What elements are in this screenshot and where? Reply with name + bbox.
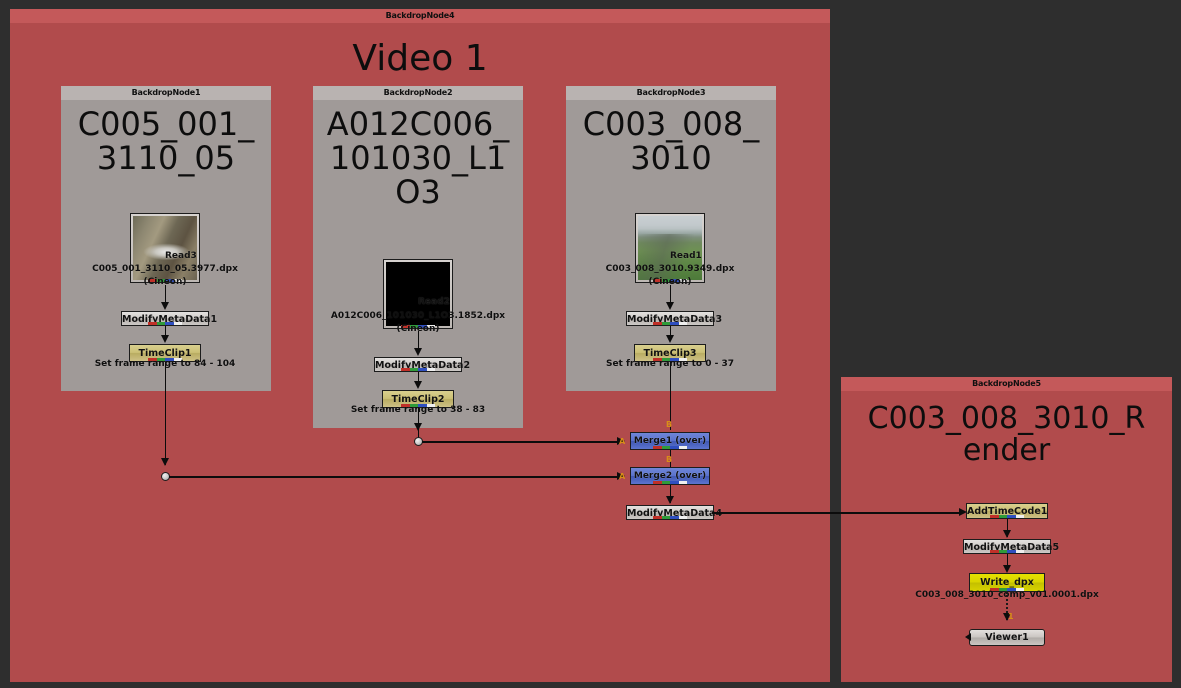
backdrop-node-3-title: C003_008_ 3010 [566,108,776,176]
arrow-modifymetadata5-to-write [1003,565,1011,573]
wire-timeclip1-to-merge2 [169,476,619,478]
merge2-input-a-label: A [619,472,625,481]
backdrop-node-1-title: C005_001_ 3110_05 [61,108,271,176]
arrow-read3-to-modifymetadata1 [161,302,169,310]
backdrop-node-2-header: BackdropNode2 [313,86,523,100]
modifymetadata1-channel-chips [148,322,182,325]
node-merge2[interactable]: Merge2 (over) [630,467,710,485]
node-viewer1[interactable]: Viewer1 [969,629,1045,646]
viewer1-label: Viewer1 [970,632,1044,643]
backdrop-node-1-header: BackdropNode1 [61,86,271,100]
arrow-modifymetadata2-to-timeclip2 [414,381,422,389]
node-modifymetadata4[interactable]: ModifyMetaData4 [626,505,714,520]
node-addtimecode1[interactable]: AddTimeCode1 [966,503,1048,519]
wire-timeclip1-down [165,362,167,465]
modifymetadata2-channel-chips [401,368,435,371]
addtimecode1-channel-chips [990,515,1024,518]
arrow-modifymetadata1-to-timeclip1 [161,335,169,343]
modifymetadata5-channel-chips [990,550,1024,553]
arrow-modifymetadata3-to-timeclip3 [666,335,674,343]
read2-file: A012C006_101030_L1O3.1852.dpx [331,311,505,321]
node-merge1[interactable]: Merge1 (over) [630,432,710,450]
viewer1-input-label: 1 [1008,612,1014,621]
arrow-timeclip1-down [161,458,169,466]
backdrop-node-4-header: BackdropNode4 [10,9,830,23]
read1-file: C003_008_3010.9349.dpx [606,264,735,274]
node-graph-canvas[interactable]: BackdropNode4 Video 1 BackdropNode1 C005… [0,0,1181,688]
merge1-input-b-label: B [666,420,672,429]
merge1-channel-chips [653,446,687,449]
backdrop-node-2-title: A012C006_ 101030_L1 O3 [313,108,523,210]
merge2-label: Merge2 (over) [631,471,709,481]
modifymetadata3-channel-chips [653,322,687,325]
modifymetadata4-channel-chips [653,516,687,519]
arrow-read1-to-modifymetadata3 [666,302,674,310]
arrow-read2-to-modifymetadata2 [414,348,422,356]
merge1-input-a-label: A [619,437,625,446]
merge1-label: Merge1 (over) [631,436,709,446]
viewer1-input-notch [965,633,971,641]
backdrop-node-5-title: C003_008_3010_R ender [841,403,1172,467]
backdrop-node-4-title: Video 1 [10,40,830,78]
node-modifymetadata5[interactable]: ModifyMetaData5 [963,539,1051,554]
merge2-input-b-label: B [666,455,672,464]
arrow-addtimecode1-to-modifymetadata5 [1003,530,1011,538]
backdrop-node-3-header: BackdropNode3 [566,86,776,100]
backdrop-node-5-header: BackdropNode5 [841,377,1172,391]
node-modifymetadata1[interactable]: ModifyMetaData1 [121,311,209,326]
wire-modifymetadata4-to-addtimecode1 [712,512,962,514]
wire-timeclip2-to-merge1 [422,441,619,443]
merge2-channel-chips [653,481,687,484]
arrow-merge2-to-modifymetadata4 [666,496,674,504]
arrow-timeclip2-down [414,423,422,431]
node-modifymetadata2[interactable]: ModifyMetaData2 [374,357,462,372]
node-modifymetadata3[interactable]: ModifyMetaData3 [626,311,714,326]
read3-file: C005_001_3110_05.3977.dpx [92,264,238,274]
write-dpx-label: Write_dpx [970,577,1044,588]
